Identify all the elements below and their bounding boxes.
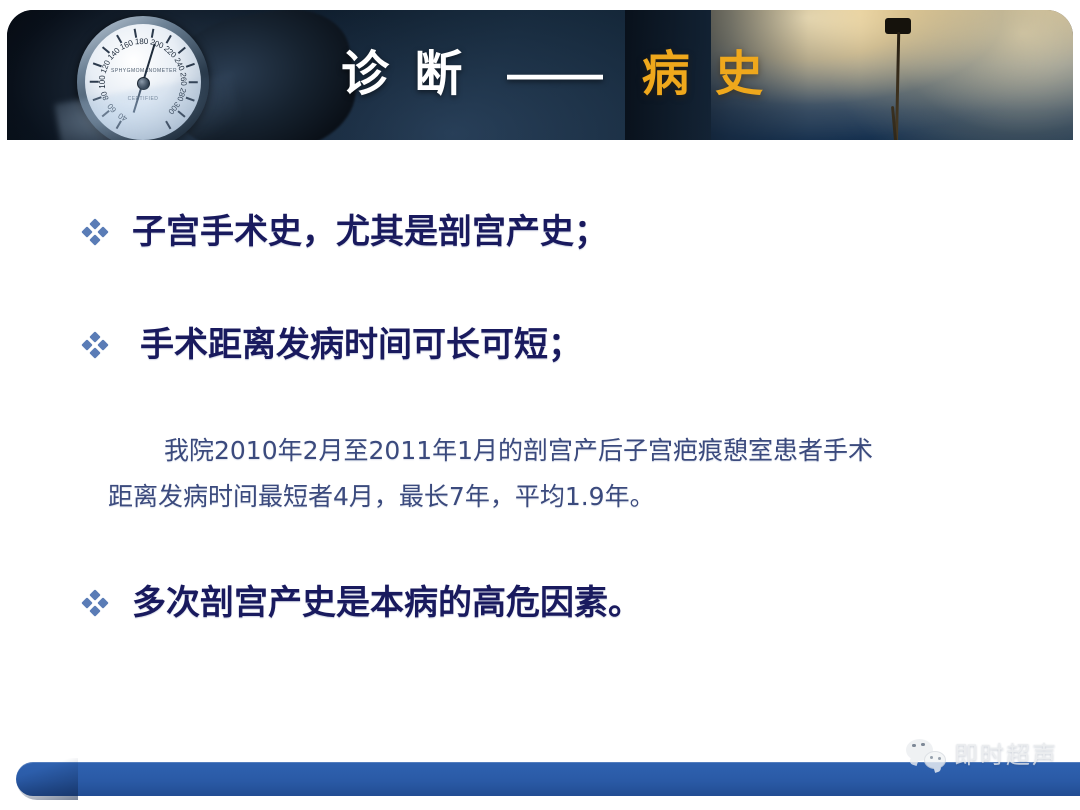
wechat-account-watermark: 即时超声 (906, 735, 1058, 770)
diamond-bullet-icon (82, 591, 108, 617)
wechat-icon (906, 737, 946, 769)
sub-note-line-2: 距离发病时间最短者4月，最长7年，平均1.9年。 (108, 474, 1008, 520)
watermark-label: 即时超声 (954, 735, 1058, 770)
list-item: 手术距离发病时间可长可短； (82, 325, 582, 366)
list-item: 子宫手术史，尤其是剖宫产史； (82, 212, 608, 253)
bullet-text-1: 子宫手术史，尤其是剖宫产史； (132, 212, 608, 253)
sub-note-paragraph: 我院2010年2月至2011年1月的剖宫产后子宫疤痕憩室患者手术 距离发病时间最… (108, 428, 1008, 521)
list-item: 多次剖宫产史是本病的高危因素。 (82, 583, 642, 624)
bullet-text-2: 手术距离发病时间可长可短； (140, 325, 582, 366)
banner-title-dash: —— (507, 48, 603, 101)
diamond-bullet-icon (82, 333, 108, 359)
banner-title-area: 诊 断 —— 病 史 (7, 10, 1073, 140)
bullet-text-3: 多次剖宫产史是本病的高危因素。 (132, 583, 642, 624)
slide-body: 子宫手术史，尤其是剖宫产史； 手术距离发病时间可长可短； 我院2010年2月至2… (0, 140, 1080, 740)
banner-title-secondary: 病 史 (642, 48, 769, 101)
slide-header-banner: 40 60 80 100 120 140 160 180 200 220 240… (7, 10, 1073, 140)
presentation-slide: 40 60 80 100 120 140 160 180 200 220 240… (0, 0, 1080, 810)
sub-note-line-1: 我院2010年2月至2011年1月的剖宫产后子宫疤痕憩室患者手术 (108, 428, 1008, 474)
diamond-bullet-icon (82, 220, 108, 246)
banner-title-primary: 诊 断 (341, 48, 468, 101)
